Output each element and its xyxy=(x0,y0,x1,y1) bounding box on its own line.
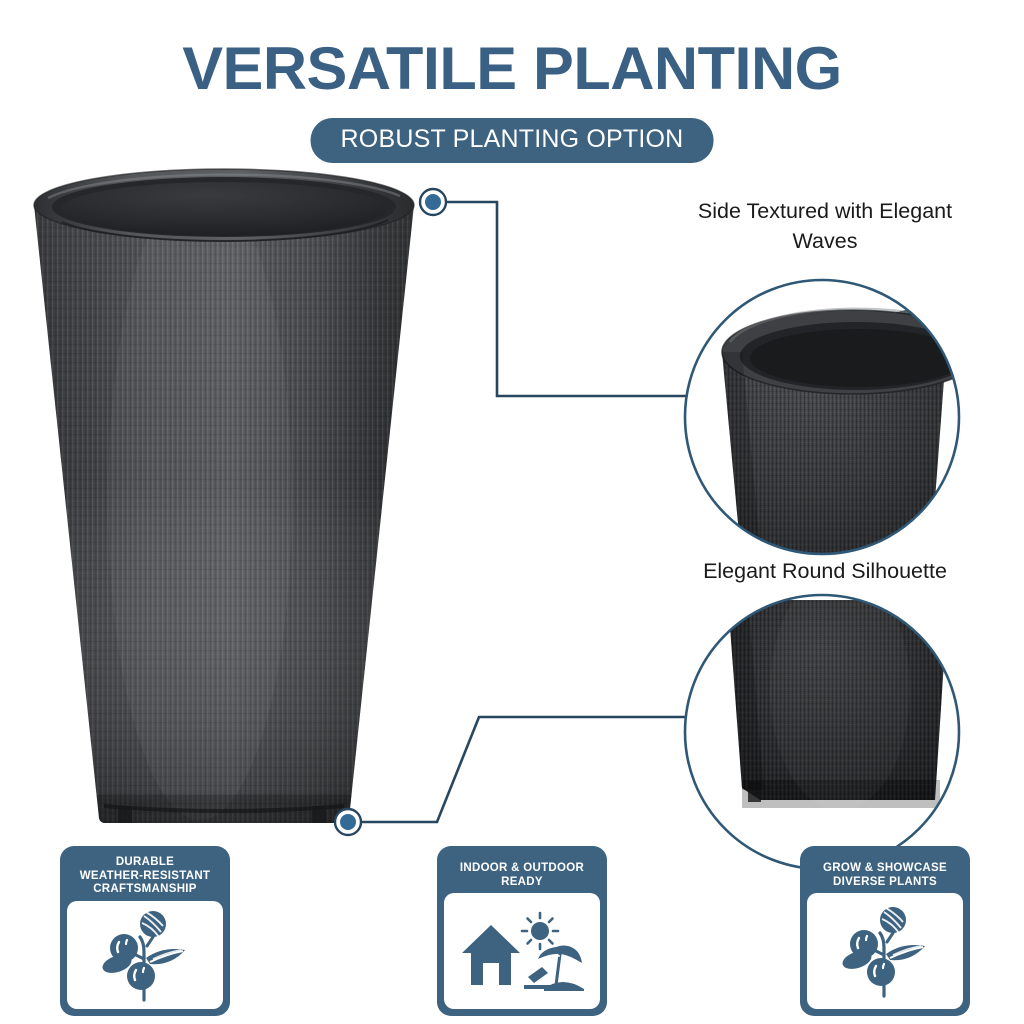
callout-caption-silhouette: Elegant Round Silhouette xyxy=(650,556,1000,586)
house-sun-beach-icon xyxy=(456,905,588,997)
caption-line: Waves xyxy=(650,226,1000,256)
badge-title-line: CRAFTSMANSHIP xyxy=(69,883,221,897)
caption-line: Elegant Round Silhouette xyxy=(650,556,1000,586)
badge-title-line: INDOOR & OUTDOOR xyxy=(446,862,598,876)
detail-circle-base xyxy=(685,570,965,875)
connector-line-1 xyxy=(433,202,686,396)
beach-icon xyxy=(524,945,584,991)
feature-badge-title: GROW & SHOWCASE DIVERSE PLANTS xyxy=(807,853,963,893)
berry-sprig-icon xyxy=(97,906,193,1004)
feature-badge-durable[interactable]: DURABLE WEATHER-RESISTANT CRAFTSMANSHIP xyxy=(60,846,230,1016)
berry-sprig-icon xyxy=(837,902,933,1000)
page-title: VERSATILE PLANTING xyxy=(0,36,1024,102)
feature-badge-row: DURABLE WEATHER-RESISTANT CRAFTSMANSHIP xyxy=(0,838,1024,1024)
callout-marker-base[interactable] xyxy=(335,809,361,835)
planter-illustration xyxy=(20,169,430,835)
feature-badge-title: INDOOR & OUTDOOR READY xyxy=(444,853,600,893)
feature-badge-icon-panel xyxy=(67,901,223,1010)
detail-circle-rim xyxy=(685,280,982,566)
badge-title-line: WEATHER-RESISTANT xyxy=(69,870,221,884)
badge-title-line: DIVERSE PLANTS xyxy=(809,876,961,890)
subtitle-pill: ROBUST PLANTING OPTION xyxy=(311,118,714,163)
feature-badge-icon-panel xyxy=(444,893,600,1009)
callout-marker-rim[interactable] xyxy=(420,189,446,215)
connector-line-2 xyxy=(348,717,688,822)
badge-title-line: GROW & SHOWCASE xyxy=(809,862,961,876)
feature-badge-icon-panel xyxy=(807,893,963,1009)
caption-line: Side Textured with Elegant xyxy=(650,196,1000,226)
feature-badge-grow-showcase[interactable]: GROW & SHOWCASE DIVERSE PLANTS xyxy=(800,846,970,1016)
callout-caption-side-texture: Side Textured with Elegant Waves xyxy=(650,196,1000,256)
feature-badge-indoor-outdoor[interactable]: INDOOR & OUTDOOR READY xyxy=(437,846,607,1016)
feature-badge-title: DURABLE WEATHER-RESISTANT CRAFTSMANSHIP xyxy=(67,853,223,901)
house-icon xyxy=(462,925,520,985)
sun-icon xyxy=(522,913,558,949)
infographic-canvas: VERSATILE PLANTING ROBUST PLANTING OPTIO… xyxy=(0,0,1024,1024)
badge-title-line: READY xyxy=(446,876,598,890)
badge-title-line: DURABLE xyxy=(69,856,221,870)
